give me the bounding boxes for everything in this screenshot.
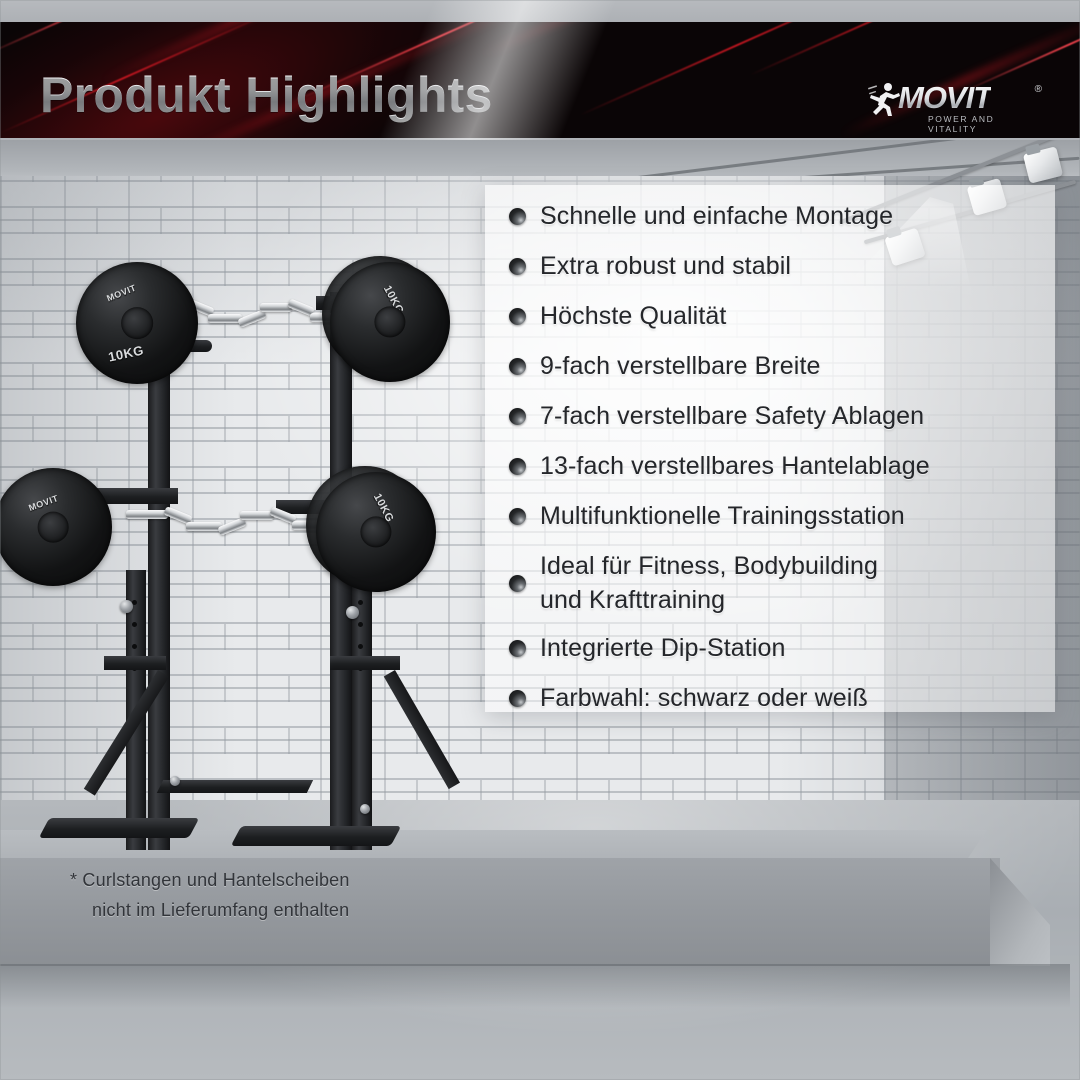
list-item: 13-fach verstellbares Hantelablage (495, 449, 1055, 485)
list-item-label-line2: und Krafttraining (540, 583, 878, 617)
rack-base-connector (157, 780, 313, 793)
runner-figure-icon (868, 82, 902, 118)
list-item: Integrierte Dip-Station (495, 631, 1055, 667)
highlights-panel: Schnelle und einfache Montage Extra robu… (485, 185, 1055, 712)
adjustment-pin (346, 606, 359, 619)
list-item-label: Multifunktionelle Trainingsstation (540, 499, 905, 533)
footnote-line2: nicht im Lieferumfang enthalten (92, 895, 540, 925)
bullet-sphere-icon (509, 358, 526, 375)
header-frame: Produkt Highlights MOVIT ® P (0, 0, 1080, 155)
logo-registered-mark: ® (1035, 84, 1042, 95)
banner-red-glow (0, 22, 569, 138)
bullet-sphere-icon (509, 690, 526, 707)
bullet-sphere-icon (509, 308, 526, 325)
bullet-sphere-icon (509, 575, 526, 592)
rack-foot-left (39, 818, 200, 838)
weight-plate: MOVIT 10KG (76, 262, 198, 384)
banner-streaks (0, 22, 1080, 138)
bullet-sphere-icon (509, 508, 526, 525)
bullet-sphere-icon (509, 408, 526, 425)
bullet-sphere-icon (509, 208, 526, 225)
weight-plate: 10KG (316, 472, 436, 592)
plate-weight-label: 10KG (371, 492, 396, 525)
list-item: Extra robust und stabil (495, 249, 1055, 285)
plate-weight-label: 10KG (107, 342, 145, 364)
list-item-label: 7-fach verstellbare Safety Ablagen (540, 399, 924, 433)
plate-brand-label: MOVIT (27, 493, 60, 513)
rack-crossbrace-right (330, 656, 400, 670)
base-bolt (360, 804, 370, 814)
ez-curl-bar-lower-seg (126, 510, 168, 519)
ez-curl-bar-lower-seg (186, 522, 222, 531)
track-light-lamp (1023, 146, 1063, 183)
footnote-line1: * Curlstangen und Hantelscheiben (70, 870, 350, 890)
base-bolt (170, 776, 180, 786)
list-item-label: Integrierte Dip-Station (540, 631, 785, 665)
list-item: Multifunktionelle Trainingsstation (495, 499, 1055, 535)
list-item: Farbwahl: schwarz oder weiß (495, 681, 1055, 717)
list-item-label: Schnelle und einfache Montage (540, 199, 893, 233)
logo-wordmark: MOVIT (898, 80, 991, 116)
bullet-sphere-icon (509, 258, 526, 275)
list-item: Schnelle und einfache Montage (495, 199, 1055, 235)
footnote: * Curlstangen und Hantelscheiben nicht i… (70, 865, 540, 925)
logo-tagline: POWER AND VITALITY (928, 114, 1044, 134)
header-banner: Produkt Highlights MOVIT ® P (0, 22, 1080, 138)
plate-weight-label: 10KG (381, 284, 406, 317)
list-item: Ideal für Fitness, Bodybuilding und Kraf… (495, 549, 1055, 617)
list-item-label-line1: Ideal für Fitness, Bodybuilding (540, 552, 878, 580)
ez-curl-bar-upper-seg (208, 314, 242, 323)
rack-foot-right (231, 826, 402, 846)
list-item-label: Höchste Qualität (540, 299, 726, 333)
rack-crossbrace-upper (104, 656, 166, 670)
weight-plate: MOVIT (0, 468, 112, 586)
list-item: 9-fach verstellbare Breite (495, 349, 1055, 385)
platform-shadow (0, 964, 1070, 1008)
plate-brand-label: MOVIT (105, 283, 137, 304)
rack-diagonal-brace-right (384, 670, 460, 789)
list-item-label: Farbwahl: schwarz oder weiß (540, 681, 868, 715)
list-item: Höchste Qualität (495, 299, 1055, 335)
movit-logo: MOVIT ® POWER AND VITALITY (868, 80, 1044, 134)
page-title: Produkt Highlights (40, 66, 493, 124)
adjustment-pin (120, 600, 133, 613)
list-item-label: 13-fach verstellbares Hantelablage (540, 449, 930, 483)
weight-plate: 10KG (330, 262, 450, 382)
gym-scene: MOVIT 10KG 10KG MOVIT 10KG Sch (0, 140, 1080, 1080)
list-item-label: Ideal für Fitness, Bodybuilding und Kraf… (540, 549, 878, 617)
highlights-list: Schnelle und einfache Montage Extra robu… (495, 199, 1055, 731)
bullet-sphere-icon (509, 640, 526, 657)
squat-rack-product: MOVIT 10KG 10KG MOVIT 10KG (30, 270, 460, 850)
list-item-label: 9-fach verstellbare Breite (540, 349, 821, 383)
list-item: 7-fach verstellbare Safety Ablagen (495, 399, 1055, 435)
list-item-label: Extra robust und stabil (540, 249, 791, 283)
product-highlights-graphic: Produkt Highlights MOVIT ® P (0, 0, 1080, 1080)
bullet-sphere-icon (509, 458, 526, 475)
